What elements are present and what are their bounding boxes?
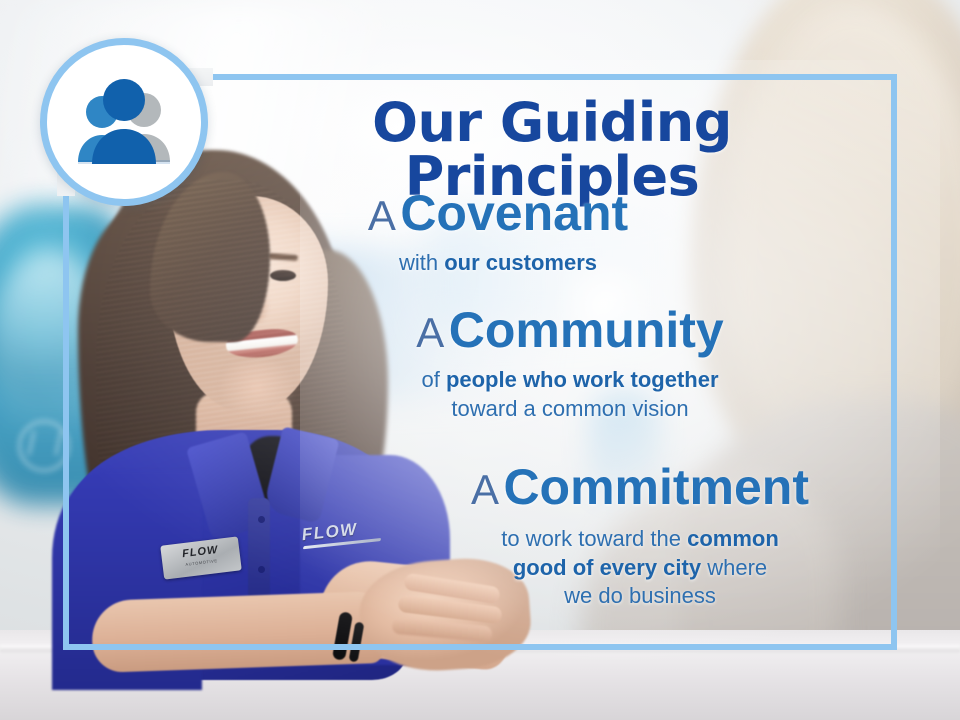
- principle-community: A Community of people who work togethert…: [330, 305, 810, 423]
- plain-text: toward a common vision: [451, 396, 688, 421]
- woman-shirt-button-bottom: [258, 566, 265, 573]
- principle-subtext: with our customers: [288, 249, 708, 278]
- woman-shirt-placket: [248, 498, 270, 608]
- plain-text: we do business: [564, 583, 716, 608]
- emphasis-text: common: [687, 526, 779, 551]
- principle-article: A: [368, 192, 396, 239]
- principle-subtext: of people who work togethertoward a comm…: [330, 366, 810, 423]
- blurred-brand-emblem: [18, 420, 70, 472]
- principle-heading: A Covenant: [288, 188, 708, 239]
- emphasis-text: people who work together: [446, 367, 719, 392]
- emphasis-text: our customers: [444, 250, 597, 275]
- guiding-principles-graphic: FLOW AUTOMOTIVE FLOW Ou: [0, 0, 960, 720]
- woman-shirt-button-top: [258, 516, 265, 523]
- principle-covenant: A Covenant with our customers: [288, 188, 708, 278]
- principle-article: A: [471, 466, 499, 513]
- plain-text: with: [399, 250, 444, 275]
- principle-word: Commitment: [503, 459, 809, 515]
- principle-word: Community: [449, 302, 724, 358]
- emphasis-text: good of every city: [513, 555, 701, 580]
- principle-commitment: A Commitment to work toward the commongo…: [400, 462, 880, 611]
- plain-text: of: [421, 367, 445, 392]
- plain-text: where: [701, 555, 767, 580]
- group-of-people-icon: [40, 38, 208, 206]
- plain-text: to work toward the: [501, 526, 687, 551]
- principle-subtext: to work toward the commongood of every c…: [400, 525, 880, 611]
- principle-heading: A Commitment: [400, 462, 880, 513]
- principle-article: A: [416, 309, 444, 356]
- principle-heading: A Community: [330, 305, 810, 356]
- principle-word: Covenant: [400, 185, 628, 241]
